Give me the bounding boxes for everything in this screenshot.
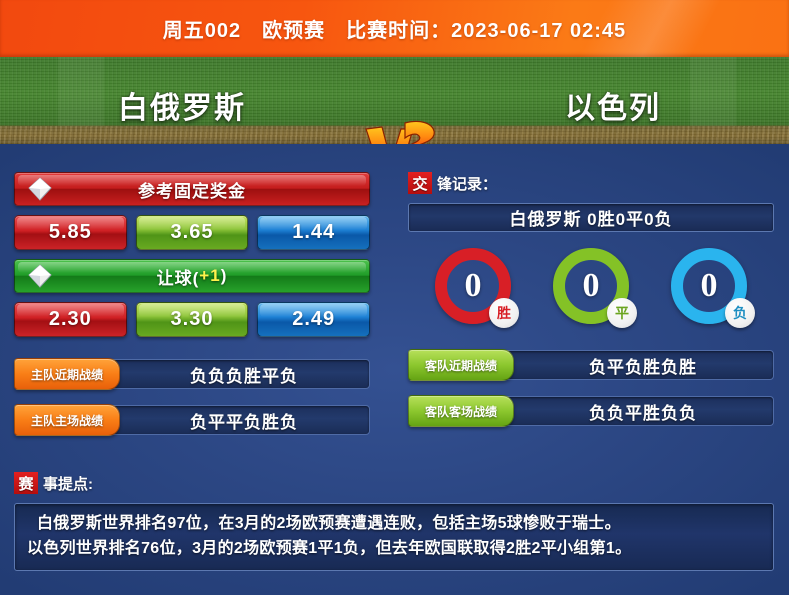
away-recent-result: 负平负胜负胜 xyxy=(531,353,697,378)
tips-badge-icon: 赛 xyxy=(14,472,38,494)
away-venue-result: 负负平胜负负 xyxy=(531,399,697,424)
h2h-win-label: 胜 xyxy=(489,298,519,328)
tips-heading: 赛 事提点: xyxy=(14,472,774,494)
h2h-ring-loss: 0 负 xyxy=(671,248,747,324)
tips-box: 白俄罗斯世界排名97位，在3月的2场欧预赛遭遇连败，包括主场5球惨败于瑞士。 以… xyxy=(14,503,774,571)
diamond-icon xyxy=(27,263,53,289)
fixed-odd-away[interactable]: 1.44 xyxy=(257,215,370,250)
h2h-draw-label: 平 xyxy=(607,298,637,328)
home-venue-tag: 主队主场战绩 xyxy=(14,404,120,436)
content-area: 参考固定奖金 5.85 3.65 1.44 让球(+1) xyxy=(0,144,789,595)
h2h-summary-box: 白俄罗斯 0胜0平0负 xyxy=(408,203,774,232)
away-recent-tag: 客队近期战绩 xyxy=(408,349,514,381)
tips-heading-text: 事提点: xyxy=(43,473,93,494)
home-venue-row: 负平平负胜负 主队主场战绩 xyxy=(14,405,370,435)
handicap-odd-home[interactable]: 2.30 xyxy=(14,302,127,337)
fixed-odd-draw[interactable]: 3.65 xyxy=(136,215,249,250)
ring-center-draw: 0 xyxy=(567,262,615,310)
h2h-ring-draw: 0 平 xyxy=(553,248,629,324)
h2h-heading: 交 锋记录： xyxy=(408,172,774,194)
handicap-odd-draw[interactable]: 3.30 xyxy=(136,302,249,337)
odds-column: 参考固定奖金 5.85 3.65 1.44 让球(+1) xyxy=(14,172,370,435)
h2h-heading-text: 锋记录： xyxy=(437,173,497,194)
handicap-title-suffix: ) xyxy=(221,266,228,286)
handicap-value: +1 xyxy=(199,266,220,286)
h2h-draw-count: 0 xyxy=(583,269,600,303)
grass-stripe xyxy=(690,57,736,126)
team-banner: 白俄罗斯 以色列 xyxy=(0,57,789,144)
match-tips-section: 赛 事提点: 白俄罗斯世界排名97位，在3月的2场欧预赛遭遇连败，包括主场5球惨… xyxy=(14,472,774,571)
ring-center-win: 0 xyxy=(449,262,497,310)
diamond-icon xyxy=(27,176,53,202)
handicap-title-prefix: 让球( xyxy=(157,264,200,289)
away-recent-row: 负平负胜负胜 客队近期战绩 xyxy=(408,350,774,380)
home-recent-result: 负负负胜平负 xyxy=(132,362,298,387)
handicap-odd-away[interactable]: 2.49 xyxy=(257,302,370,337)
h2h-column: 交 锋记录： 白俄罗斯 0胜0平0负 0 胜 0 xyxy=(408,172,774,426)
handicap-odds-row: 2.30 3.30 2.49 xyxy=(14,302,370,337)
h2h-ring-win: 0 胜 xyxy=(435,248,511,324)
h2h-loss-count: 0 xyxy=(701,269,718,303)
fixed-odds-title-bar: 参考固定奖金 xyxy=(14,172,370,206)
ring-center-loss: 0 xyxy=(685,262,733,310)
home-team-name: 白俄罗斯 xyxy=(118,83,246,127)
h2h-loss-label: 负 xyxy=(725,298,755,328)
h2h-badge-icon: 交 xyxy=(408,172,432,194)
match-preview-card: 周五002 欧预赛 比赛时间：2023-06-17 02:45 白俄罗斯 以色列 xyxy=(0,0,789,595)
home-venue-result: 负平平负胜负 xyxy=(132,408,298,433)
away-venue-tag: 客队客场战绩 xyxy=(408,395,514,427)
away-venue-row: 负负平胜负负 客队客场战绩 xyxy=(408,396,774,426)
h2h-win-count: 0 xyxy=(465,269,482,303)
away-team-name: 以色列 xyxy=(565,83,661,127)
h2h-rings: 0 胜 0 平 0 负 xyxy=(408,248,774,324)
home-recent-row: 负负负胜平负 主队近期战绩 xyxy=(14,359,370,389)
match-header: 周五002 欧预赛 比赛时间：2023-06-17 02:45 xyxy=(0,0,789,57)
tips-line: 白俄罗斯世界排名97位，在3月的2场欧预赛遭遇连败，包括主场5球惨败于瑞士。 xyxy=(27,511,761,536)
fixed-odds-title: 参考固定奖金 xyxy=(138,177,246,202)
match-header-text: 周五002 欧预赛 比赛时间：2023-06-17 02:45 xyxy=(163,14,626,43)
fixed-odds-row: 5.85 3.65 1.44 xyxy=(14,215,370,250)
tips-line: 以色列世界排名76位，3月的2场欧预赛1平1负，但去年欧国联取得2胜2平小组第1… xyxy=(27,536,761,561)
fixed-odd-home[interactable]: 5.85 xyxy=(14,215,127,250)
grass-stripe xyxy=(58,57,104,126)
vs-icon xyxy=(358,113,443,144)
h2h-summary-text: 白俄罗斯 0胜0平0负 xyxy=(509,205,672,230)
handicap-title-bar: 让球(+1) xyxy=(14,259,370,293)
home-recent-tag: 主队近期战绩 xyxy=(14,358,120,390)
